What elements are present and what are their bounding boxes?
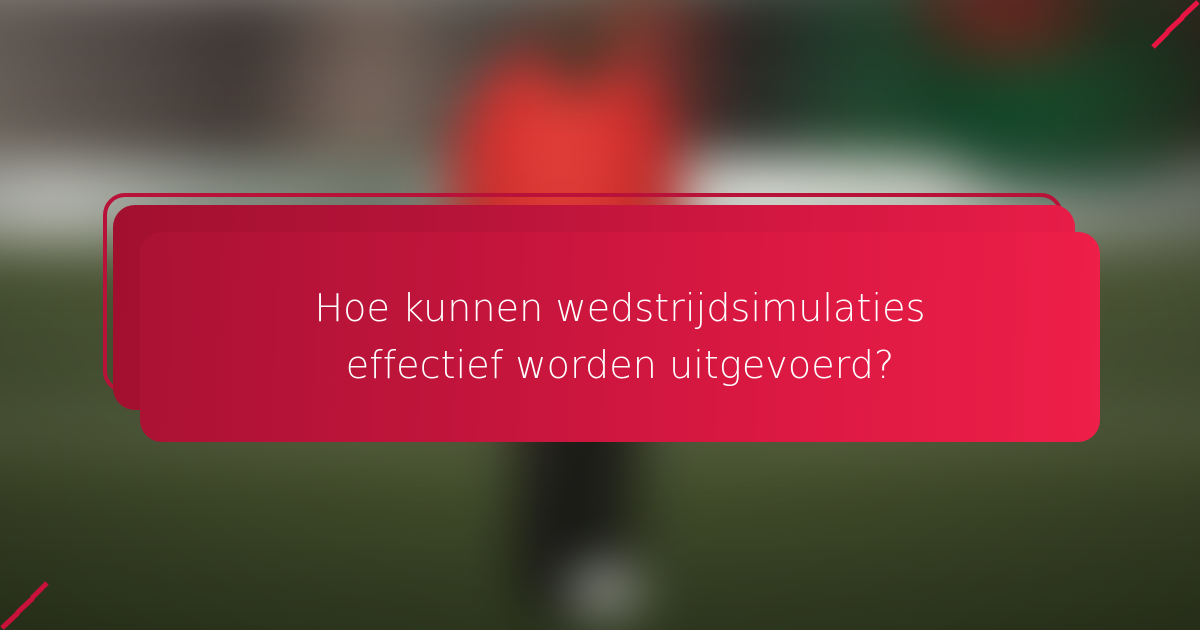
banner-canvas: Hoe kunnen wedstrijdsimulaties effectief… bbox=[0, 0, 1200, 630]
headline-card: Hoe kunnen wedstrijdsimulaties effectief… bbox=[140, 232, 1100, 442]
page-title: Hoe kunnen wedstrijdsimulaties effectief… bbox=[186, 280, 1054, 394]
